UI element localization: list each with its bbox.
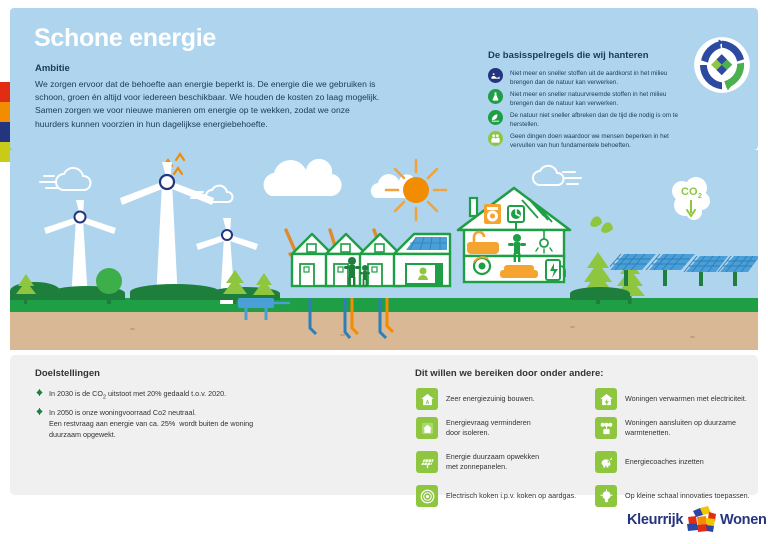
svg-text:2: 2 xyxy=(698,193,702,200)
action-item-right-2: Energiecoaches inzetten xyxy=(595,451,704,473)
sun-icon xyxy=(382,156,450,224)
illustration-scene: CO 2 xyxy=(10,150,758,350)
rule-text-1: Niet meer en sneller natuurvreemde stoff… xyxy=(510,89,688,109)
svg-text:A: A xyxy=(425,399,429,405)
induction-cooktop-icon xyxy=(416,485,438,507)
chemicals-icon xyxy=(488,89,503,104)
goal-text-1: In 2050 is onze woningvoorraad Co2 neutr… xyxy=(49,407,253,440)
rule-item-0: Niet meer en sneller stoffen uit de aard… xyxy=(488,68,688,88)
infographic-page: Schone energie Ambitie We zorgen ervoor … xyxy=(0,0,768,544)
recycle-badge-icon xyxy=(693,36,751,94)
logo-word-kleurrijk: Kleurrijk xyxy=(627,512,683,528)
solar-panel-icon xyxy=(416,451,438,473)
rule-item-3: Geen dingen doen waardoor we mensen bepe… xyxy=(488,131,688,151)
tree-icon xyxy=(92,266,126,304)
insulation-house-icon xyxy=(416,417,438,439)
action-label-right-2: Energiecoaches inzetten xyxy=(625,457,704,468)
action-label-right-1: Woningen aansluiten op duurzamewarmtenet… xyxy=(625,418,736,439)
actions-heading: Dit willen we bereiken door onder andere… xyxy=(415,368,603,379)
electric-heating-icon xyxy=(595,388,617,410)
rule-text-0: Niet meer en sneller stoffen uit de aard… xyxy=(510,68,688,88)
action-label-left-2: Energie duurzaam opwekkenmet zonnepanele… xyxy=(446,452,539,473)
energy-coach-icon xyxy=(595,451,617,473)
innovation-bulb-icon xyxy=(595,485,617,507)
action-item-right-1: Woningen aansluiten op duurzamewarmtenet… xyxy=(595,417,736,439)
earth-crust-icon xyxy=(488,68,503,83)
rule-item-2: De natuur niet sneller afbreken dan de t… xyxy=(488,110,688,130)
bush xyxy=(130,284,220,300)
header-band: Schone energie Ambitie We zorgen ervoor … xyxy=(10,8,758,150)
soil-speck xyxy=(570,326,575,328)
logo-word-wonen: Wonen xyxy=(720,512,767,528)
co2-cloud-icon: CO 2 xyxy=(665,175,717,227)
rules-heading: De basisspelregels die wij hanteren xyxy=(488,50,649,61)
ground-pipes-icon xyxy=(290,298,452,350)
leaves-icon xyxy=(588,212,614,234)
row-houses-icon xyxy=(290,220,452,300)
energy-efficient-house-icon: A xyxy=(416,388,438,410)
soil-speck xyxy=(130,328,135,330)
kleurrijk-wonen-logo[interactable]: Kleurrijk Wonen xyxy=(627,503,759,537)
kleurrijk-wonen-pinwheel-icon xyxy=(684,505,718,535)
action-label-right-3: Op kleine schaal innovaties toepassen. xyxy=(625,491,750,502)
action-label-left-0: Zeer energiezuinig bouwen. xyxy=(446,394,535,405)
soil-speck xyxy=(690,336,695,338)
page-title: Schone energie xyxy=(34,24,216,53)
bullet-arrow-icon xyxy=(36,407,43,415)
action-item-left-1: Energievraag verminderendoor isoleren. xyxy=(416,417,531,439)
heat-network-icon xyxy=(595,417,617,439)
ambition-body: We zorgen ervoor dat de behoefte aan ene… xyxy=(35,78,380,131)
goal-text-0: In 2030 is de CO2 uitstoot met 20% gedaa… xyxy=(49,388,226,403)
rule-item-1: Niet meer en sneller natuurvreemde stoff… xyxy=(488,89,688,109)
bottom-panel: Doelstellingen In 2030 is de CO2 uitstoo… xyxy=(10,355,758,495)
tree-icon xyxy=(13,272,39,304)
action-item-right-0: Woningen verwarmen met electriciteit. xyxy=(595,388,747,410)
rule-text-3: Geen dingen doen waardoor we mensen bepe… xyxy=(510,131,688,151)
people-icon xyxy=(488,131,503,146)
cloud-icon xyxy=(257,156,347,204)
action-item-left-0: A Zeer energiezuinig bouwen. xyxy=(416,388,535,410)
solar-panel-array-icon xyxy=(610,248,758,300)
cloud-icon xyxy=(38,162,108,197)
rule-text-2: De natuur niet sneller afbreken dan de t… xyxy=(510,110,688,130)
svg-text:CO: CO xyxy=(681,186,698,198)
ambition-heading: Ambitie xyxy=(35,63,70,74)
bullet-arrow-icon xyxy=(36,388,43,396)
goal-item-0: In 2030 is de CO2 uitstoot met 20% gedaa… xyxy=(36,388,226,403)
action-item-left-3: Electrisch koken i.p.v. koken op aardgas… xyxy=(416,485,576,507)
action-label-left-3: Electrisch koken i.p.v. koken op aardgas… xyxy=(446,491,576,502)
goals-heading: Doelstellingen xyxy=(35,368,100,379)
nature-icon xyxy=(488,110,503,125)
goal-item-1: In 2050 is onze woningvoorraad Co2 neutr… xyxy=(36,407,253,440)
action-label-right-0: Woningen verwarmen met electriciteit. xyxy=(625,394,747,405)
house-cutaway-icon xyxy=(454,182,578,300)
water-source-icon xyxy=(232,290,292,322)
action-item-left-2: Energie duurzaam opwekkenmet zonnepanele… xyxy=(416,451,539,473)
action-label-left-1: Energievraag verminderendoor isoleren. xyxy=(446,418,531,439)
